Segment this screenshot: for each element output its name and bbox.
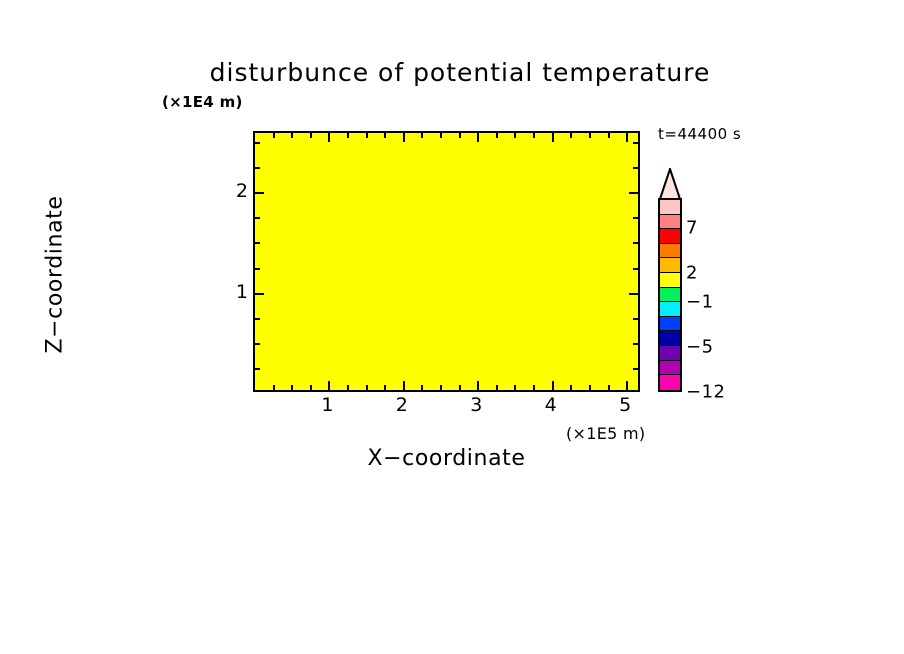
contour-plot-area xyxy=(253,131,640,392)
x-tick-top xyxy=(514,133,516,138)
x-tick-label: 3 xyxy=(470,394,482,416)
y-tick xyxy=(255,217,260,219)
y-tick-label: 1 xyxy=(222,281,248,303)
y-tick-label: 2 xyxy=(222,180,248,202)
y-tick xyxy=(255,318,260,320)
colorbar-band-blue xyxy=(660,317,680,332)
y-tick-right xyxy=(633,242,638,244)
colorbar-band-magenta-purple xyxy=(660,361,680,376)
x-tick-top xyxy=(589,133,591,138)
colorbar-label: −12 xyxy=(686,382,726,403)
x-tick xyxy=(477,381,479,390)
colorbar-label: −5 xyxy=(686,337,714,358)
y-tick-right xyxy=(633,318,638,320)
x-axis-title: X−coordinate xyxy=(253,446,640,471)
x-tick-top xyxy=(273,133,275,138)
y-tick-right xyxy=(633,368,638,370)
x-tick xyxy=(347,385,349,390)
x-tick-label: 1 xyxy=(321,394,333,416)
x-tick xyxy=(552,381,554,390)
colorbar-band-orange xyxy=(660,244,680,259)
x-tick xyxy=(496,385,498,390)
x-tick-top xyxy=(552,133,554,142)
y-tick-right xyxy=(629,293,638,295)
x-tick xyxy=(570,385,572,390)
x-tick-top xyxy=(570,133,572,138)
x-tick-label: 5 xyxy=(619,394,631,416)
colorbar-label: 2 xyxy=(686,262,698,283)
x-tick-top xyxy=(477,133,479,142)
colorbar-band-salmon xyxy=(660,215,680,230)
x-tick-top xyxy=(608,133,610,138)
colorbar-band-cyan xyxy=(660,302,680,317)
colorbar-bands xyxy=(658,198,682,392)
y-tick xyxy=(255,167,260,169)
x-tick xyxy=(421,385,423,390)
y-tick xyxy=(255,343,260,345)
x-tick xyxy=(291,385,293,390)
x-tick xyxy=(459,385,461,390)
colorbar-arrow-tip-icon xyxy=(658,168,682,200)
y-tick xyxy=(255,142,260,144)
y-tick xyxy=(255,368,260,370)
colorbar-band-navy xyxy=(660,331,680,346)
colorbar-label: 7 xyxy=(686,217,698,238)
x-tick-top xyxy=(384,133,386,138)
y-tick-right xyxy=(633,142,638,144)
figure-title: disturbunce of potential temperature xyxy=(160,58,760,87)
x-tick-top xyxy=(421,133,423,138)
y-axis-title: Z−coordinate xyxy=(43,160,68,390)
y-tick-right xyxy=(633,167,638,169)
x-tick xyxy=(310,385,312,390)
colorbar-band-red xyxy=(660,229,680,244)
x-tick-top xyxy=(347,133,349,138)
x-tick xyxy=(533,385,535,390)
x-tick xyxy=(608,385,610,390)
x-tick-label: 2 xyxy=(396,394,408,416)
y-tick xyxy=(255,268,260,270)
y-tick-right xyxy=(629,192,638,194)
y-tick-right xyxy=(633,268,638,270)
y-tick-right xyxy=(633,217,638,219)
x-tick-top xyxy=(328,133,330,142)
x-tick-top xyxy=(440,133,442,138)
colorbar-band-yellow xyxy=(660,273,680,288)
colorbar-band-magenta xyxy=(660,375,680,390)
x-tick xyxy=(403,381,405,390)
x-tick-top xyxy=(291,133,293,138)
timestamp-label: t=44400 s xyxy=(658,125,741,143)
x-tick xyxy=(589,385,591,390)
x-axis-units-label: (×1E5 m) xyxy=(566,424,645,443)
x-tick-top xyxy=(533,133,535,138)
contour-field-canvas xyxy=(255,133,638,390)
figure-root: disturbunce of potential temperature (×1… xyxy=(0,0,904,654)
x-tick xyxy=(384,385,386,390)
x-tick xyxy=(440,385,442,390)
x-tick-label: 4 xyxy=(545,394,557,416)
x-tick-top xyxy=(366,133,368,138)
colorbar-band-amber xyxy=(660,258,680,273)
x-tick-top xyxy=(310,133,312,138)
x-tick-top xyxy=(496,133,498,138)
z-axis-units-label: (×1E4 m) xyxy=(162,93,243,111)
x-tick-top xyxy=(403,133,405,142)
y-tick xyxy=(255,242,260,244)
colorbar-label: −1 xyxy=(686,292,714,313)
colorbar-band-green xyxy=(660,288,680,303)
x-tick-top xyxy=(459,133,461,138)
x-tick xyxy=(328,381,330,390)
y-tick xyxy=(255,192,264,194)
x-tick xyxy=(514,385,516,390)
colorbar-band-light-pink xyxy=(660,200,680,215)
colorbar-band-purple xyxy=(660,346,680,361)
colorbar: 72−1−5−12 xyxy=(658,168,682,392)
x-tick-top xyxy=(626,133,628,142)
x-tick xyxy=(626,381,628,390)
y-tick xyxy=(255,293,264,295)
y-tick-right xyxy=(633,343,638,345)
x-tick xyxy=(273,385,275,390)
x-tick xyxy=(366,385,368,390)
